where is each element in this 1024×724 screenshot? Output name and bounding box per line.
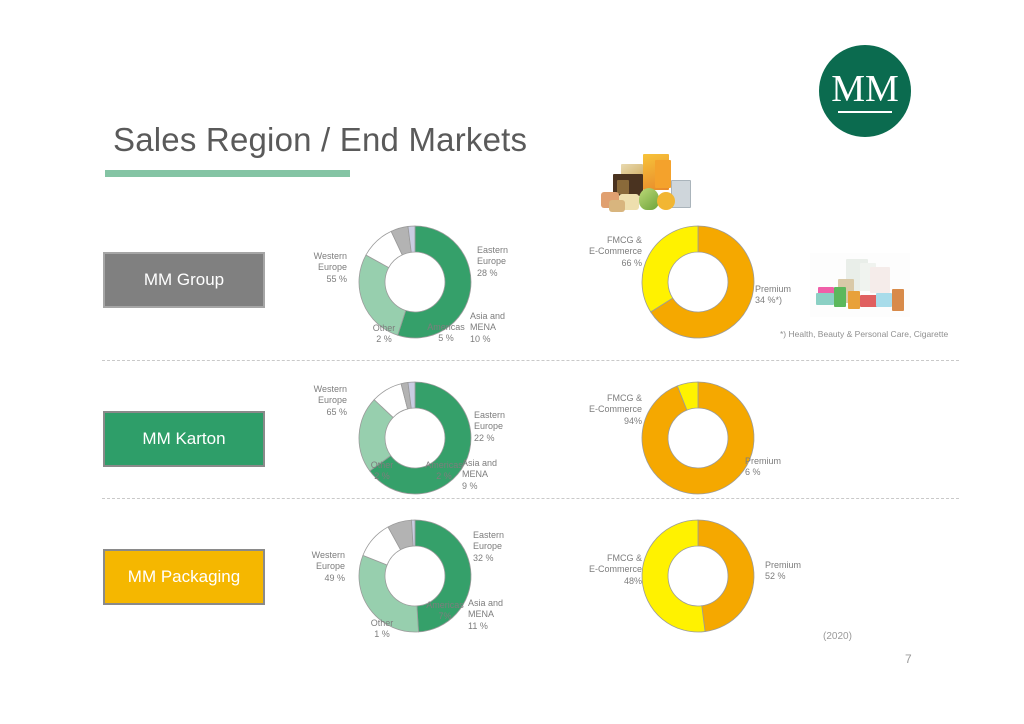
photo-health-beauty-products (810, 253, 910, 317)
region-label-americas-group: Americas 5 % (420, 322, 472, 345)
market-donut-mm-group (641, 225, 755, 339)
market-label-fmcg-group: FMCG & E-Commerce 66 % (578, 235, 642, 269)
region-label-eastern-europe-packaging: Eastern Europe 32 % (473, 530, 529, 564)
region-label-asia-mena-packaging: Asia and MENA 11 % (468, 598, 518, 632)
segment-box-mm-karton[interactable]: MM Karton (103, 411, 265, 467)
region-label-other-packaging: Other 1 % (360, 618, 404, 641)
logo-text: MM (831, 70, 899, 108)
region-label-western-europe-packaging: Western Europe 49 % (293, 550, 345, 584)
footnote-text: *) Health, Beauty & Personal Care, Cigar… (780, 329, 948, 339)
year-note: (2020) (823, 631, 852, 642)
market-donut-mm-karton (641, 381, 755, 495)
title-underline (105, 170, 350, 177)
market-label-premium-packaging: Premium 52 % (765, 560, 825, 583)
region-label-americas-packaging: Americas 7% (419, 600, 471, 623)
row-divider-1 (102, 360, 959, 361)
segment-box-mm-packaging[interactable]: MM Packaging (103, 549, 265, 605)
market-donut-mm-packaging (641, 519, 755, 633)
segment-box-mm-group[interactable]: MM Group (103, 252, 265, 308)
logo-underline (838, 111, 892, 113)
region-label-asia-mena-group: Asia and MENA 10 % (470, 311, 520, 345)
photo-fmcg-products (597, 152, 702, 220)
mm-logo: MM (819, 45, 911, 137)
market-label-fmcg-karton: FMCG & E-Commerce 94% (578, 393, 642, 427)
region-label-eastern-europe-group: Eastern Europe 28 % (477, 245, 535, 279)
page-title: Sales Region / End Markets (113, 121, 527, 159)
market-label-premium-karton: Premium 6 % (745, 456, 805, 479)
region-label-eastern-europe-karton: Eastern Europe 22 % (474, 410, 530, 444)
region-label-western-europe-group: Western Europe 55 % (295, 251, 347, 285)
slide-canvas: MM Sales Region / End Markets MM Group M… (0, 0, 1024, 724)
row-divider-2 (102, 498, 959, 499)
market-label-premium-group: Premium 34 %*) (755, 284, 815, 307)
page-number: 7 (905, 652, 912, 666)
region-label-other-group: Other 2 % (362, 323, 406, 346)
region-label-other-karton: Other 2 % (360, 460, 404, 483)
market-label-fmcg-packaging: FMCG & E-Commerce 48% (578, 553, 642, 587)
region-label-western-europe-karton: Western Europe 65 % (295, 384, 347, 418)
region-label-americas-karton: Americas 2 % (418, 460, 470, 483)
